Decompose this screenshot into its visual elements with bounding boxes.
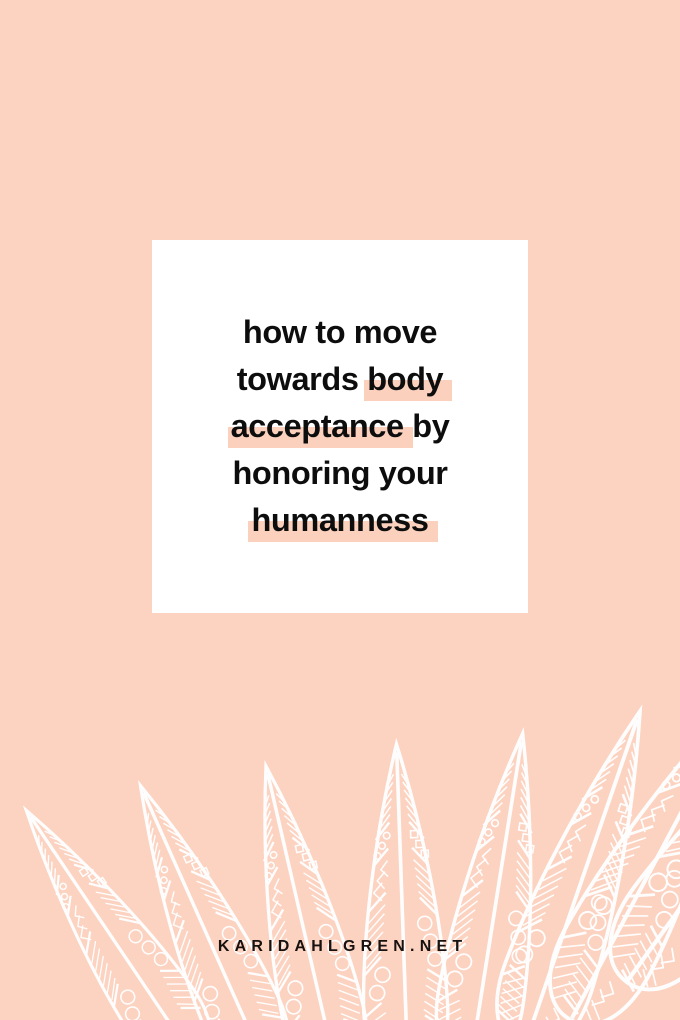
quote-line-1: how to move <box>162 309 518 356</box>
quote-line-3: acceptance by <box>162 403 518 450</box>
quote-card: how to move towards body acceptance by h… <box>152 240 528 613</box>
quote-line-4: honoring your <box>162 450 518 497</box>
poster-canvas: how to move towards body acceptance by h… <box>0 0 680 1020</box>
quote-text: how to move towards body acceptance by h… <box>152 309 528 544</box>
quote-segment-plain: honoring your <box>232 455 447 491</box>
quote-line-2: towards body <box>162 356 518 403</box>
quote-segment-plain: how to move <box>243 314 437 350</box>
quote-segment-highlighted: humanness <box>251 497 428 544</box>
site-url: KARIDAHLGREN.NET <box>0 938 680 956</box>
quote-line-5: humanness <box>162 497 518 544</box>
quote-segment-highlighted: acceptance <box>231 403 404 450</box>
quote-segment-highlighted: body <box>367 356 443 403</box>
quote-segment-plain: towards <box>237 361 367 397</box>
